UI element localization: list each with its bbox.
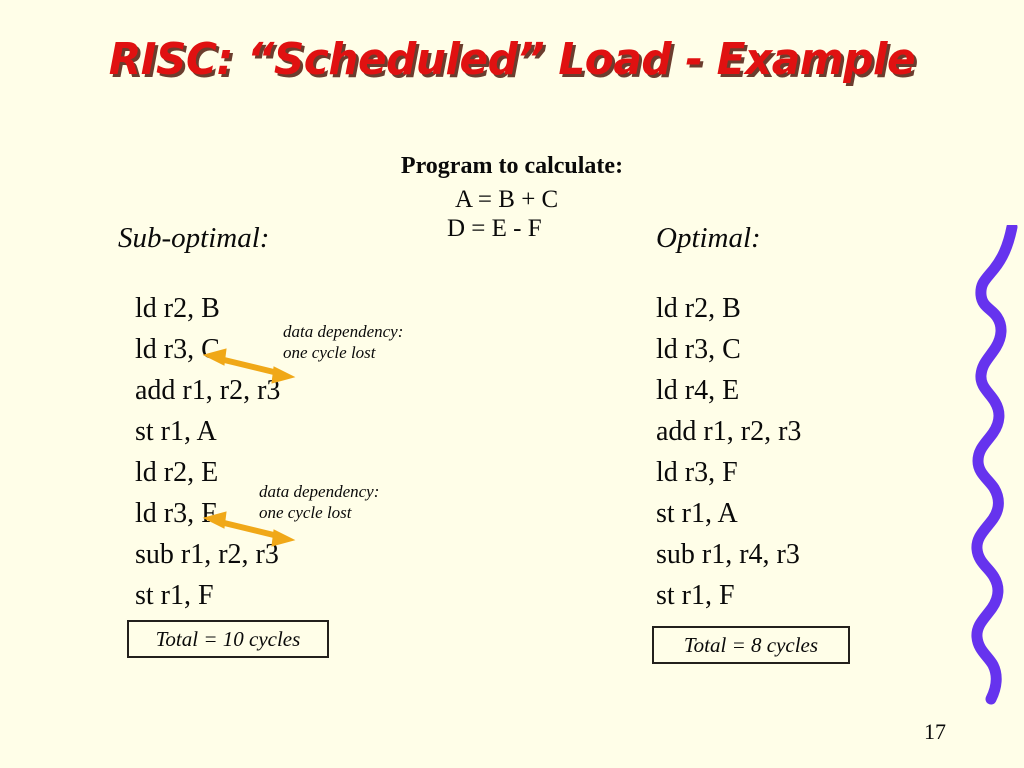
squiggle-decoration-icon xyxy=(950,225,1024,705)
right-total-badge: Total = 8 cycles xyxy=(652,626,850,664)
program-line-1: A = B + C xyxy=(455,186,558,214)
list-item: ld r3, F xyxy=(656,452,801,493)
list-item: ld r4, E xyxy=(656,370,801,411)
list-item: ld r2, B xyxy=(656,288,801,329)
left-column-heading: Sub-optimal: xyxy=(118,222,269,255)
right-instruction-list: ld r2, B ld r3, C ld r4, E add r1, r2, r… xyxy=(656,288,801,616)
left-instruction-list: ld r2, B ld r3, C add r1, r2, r3 st r1, … xyxy=(135,288,280,616)
list-item: ld r2, B xyxy=(135,288,280,329)
annotation-line-1: data dependency: xyxy=(259,481,379,502)
annotation-line-2: one cycle lost xyxy=(283,342,403,363)
right-column-heading: Optimal: xyxy=(656,222,761,255)
double-arrow-icon xyxy=(200,503,300,553)
list-item: st r1, A xyxy=(135,411,280,452)
list-item: st r1, F xyxy=(656,575,801,616)
list-item: ld r3, C xyxy=(656,329,801,370)
list-item: st r1, F xyxy=(135,575,280,616)
list-item: st r1, A xyxy=(656,493,801,534)
slide-canvas: RISC: “Scheduled” Load - Example Program… xyxy=(0,0,1024,768)
double-arrow-icon xyxy=(200,340,300,390)
list-item: sub r1, r4, r3 xyxy=(656,534,801,575)
page-title: RISC: “Scheduled” Load - Example xyxy=(20,34,1003,85)
page-number: 17 xyxy=(924,719,946,745)
program-heading: Program to calculate: xyxy=(0,153,1024,180)
list-item: add r1, r2, r3 xyxy=(656,411,801,452)
data-dependency-annotation-1: data dependency: one cycle lost xyxy=(283,321,403,363)
program-line-2: D = E - F xyxy=(447,215,542,243)
left-total-badge: Total = 10 cycles xyxy=(127,620,329,658)
annotation-line-1: data dependency: xyxy=(283,321,403,342)
